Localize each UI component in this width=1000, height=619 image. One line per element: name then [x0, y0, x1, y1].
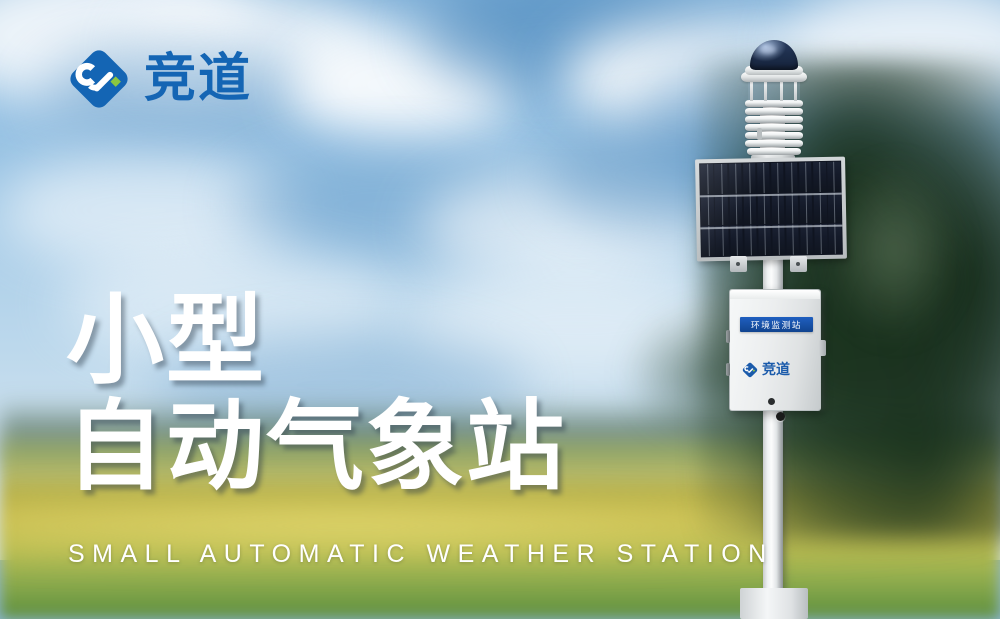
solar-cell	[702, 226, 715, 256]
solar-cell	[701, 164, 714, 194]
control-box-label-text: 环境监测站	[751, 318, 802, 330]
control-box-brand-name: 竞道	[762, 363, 790, 377]
control-box-cable-gland	[768, 398, 775, 405]
headline-line-2: 自动气象站	[66, 398, 566, 498]
control-box-latch	[726, 330, 730, 343]
control-box-latch	[726, 363, 730, 376]
solar-cell	[786, 225, 799, 255]
sensor-support-posts	[748, 81, 800, 101]
solar-cell	[828, 193, 841, 223]
solar-cell	[729, 164, 742, 194]
control-box-lid	[730, 290, 820, 299]
jingdao-diamond-logo-icon	[68, 48, 130, 110]
page-title: 小型 自动气象站	[66, 292, 566, 498]
control-box-hinge	[819, 340, 826, 356]
solar-cell	[785, 194, 798, 224]
solar-cell	[730, 226, 743, 256]
solar-cell	[715, 195, 728, 225]
solar-cell	[758, 225, 771, 255]
control-box: 环境监测站 竞道	[729, 289, 821, 411]
solar-cell	[785, 163, 798, 193]
brand-logo[interactable]: 竞道	[68, 48, 252, 110]
solar-cell	[827, 162, 840, 192]
solar-cell	[800, 193, 813, 223]
control-box-brand: 竞道	[742, 362, 790, 378]
solar-cell	[799, 163, 812, 193]
solar-cell	[771, 163, 784, 193]
solar-cell	[828, 224, 841, 254]
solar-cell	[771, 194, 784, 224]
pole-base	[740, 588, 808, 619]
solar-cell	[800, 224, 813, 254]
solar-panel	[695, 157, 847, 262]
dome-specular-highlight	[760, 45, 776, 54]
solar-cell	[729, 195, 742, 225]
solar-cell	[757, 194, 770, 224]
headline-line-1: 小型	[66, 292, 566, 392]
solar-cell	[743, 195, 756, 225]
solar-cell	[744, 225, 757, 255]
solar-cell	[701, 195, 714, 225]
solar-cell	[715, 164, 728, 194]
radiation-shield-icon	[745, 100, 803, 156]
solar-cell	[814, 224, 827, 254]
brand-name: 竞道	[144, 53, 252, 105]
solar-cell	[716, 226, 729, 256]
subtitle: SMALL AUTOMATIC WEATHER STATION	[68, 540, 774, 569]
control-box-label: 环境监测站	[740, 317, 813, 332]
solar-cell	[813, 162, 826, 192]
solar-cell	[757, 163, 770, 193]
solar-cell	[814, 193, 827, 223]
banner-canvas: 环境监测站 竞道	[0, 0, 1000, 619]
solar-panel-cell-grid	[699, 161, 843, 258]
pole-screw	[776, 412, 785, 421]
solar-cell	[743, 164, 756, 194]
shield-connector	[757, 128, 762, 140]
solar-cell	[772, 225, 785, 255]
jingdao-diamond-logo-icon	[742, 362, 758, 378]
bracket-bolt	[796, 262, 800, 266]
bracket-bolt	[736, 262, 740, 266]
